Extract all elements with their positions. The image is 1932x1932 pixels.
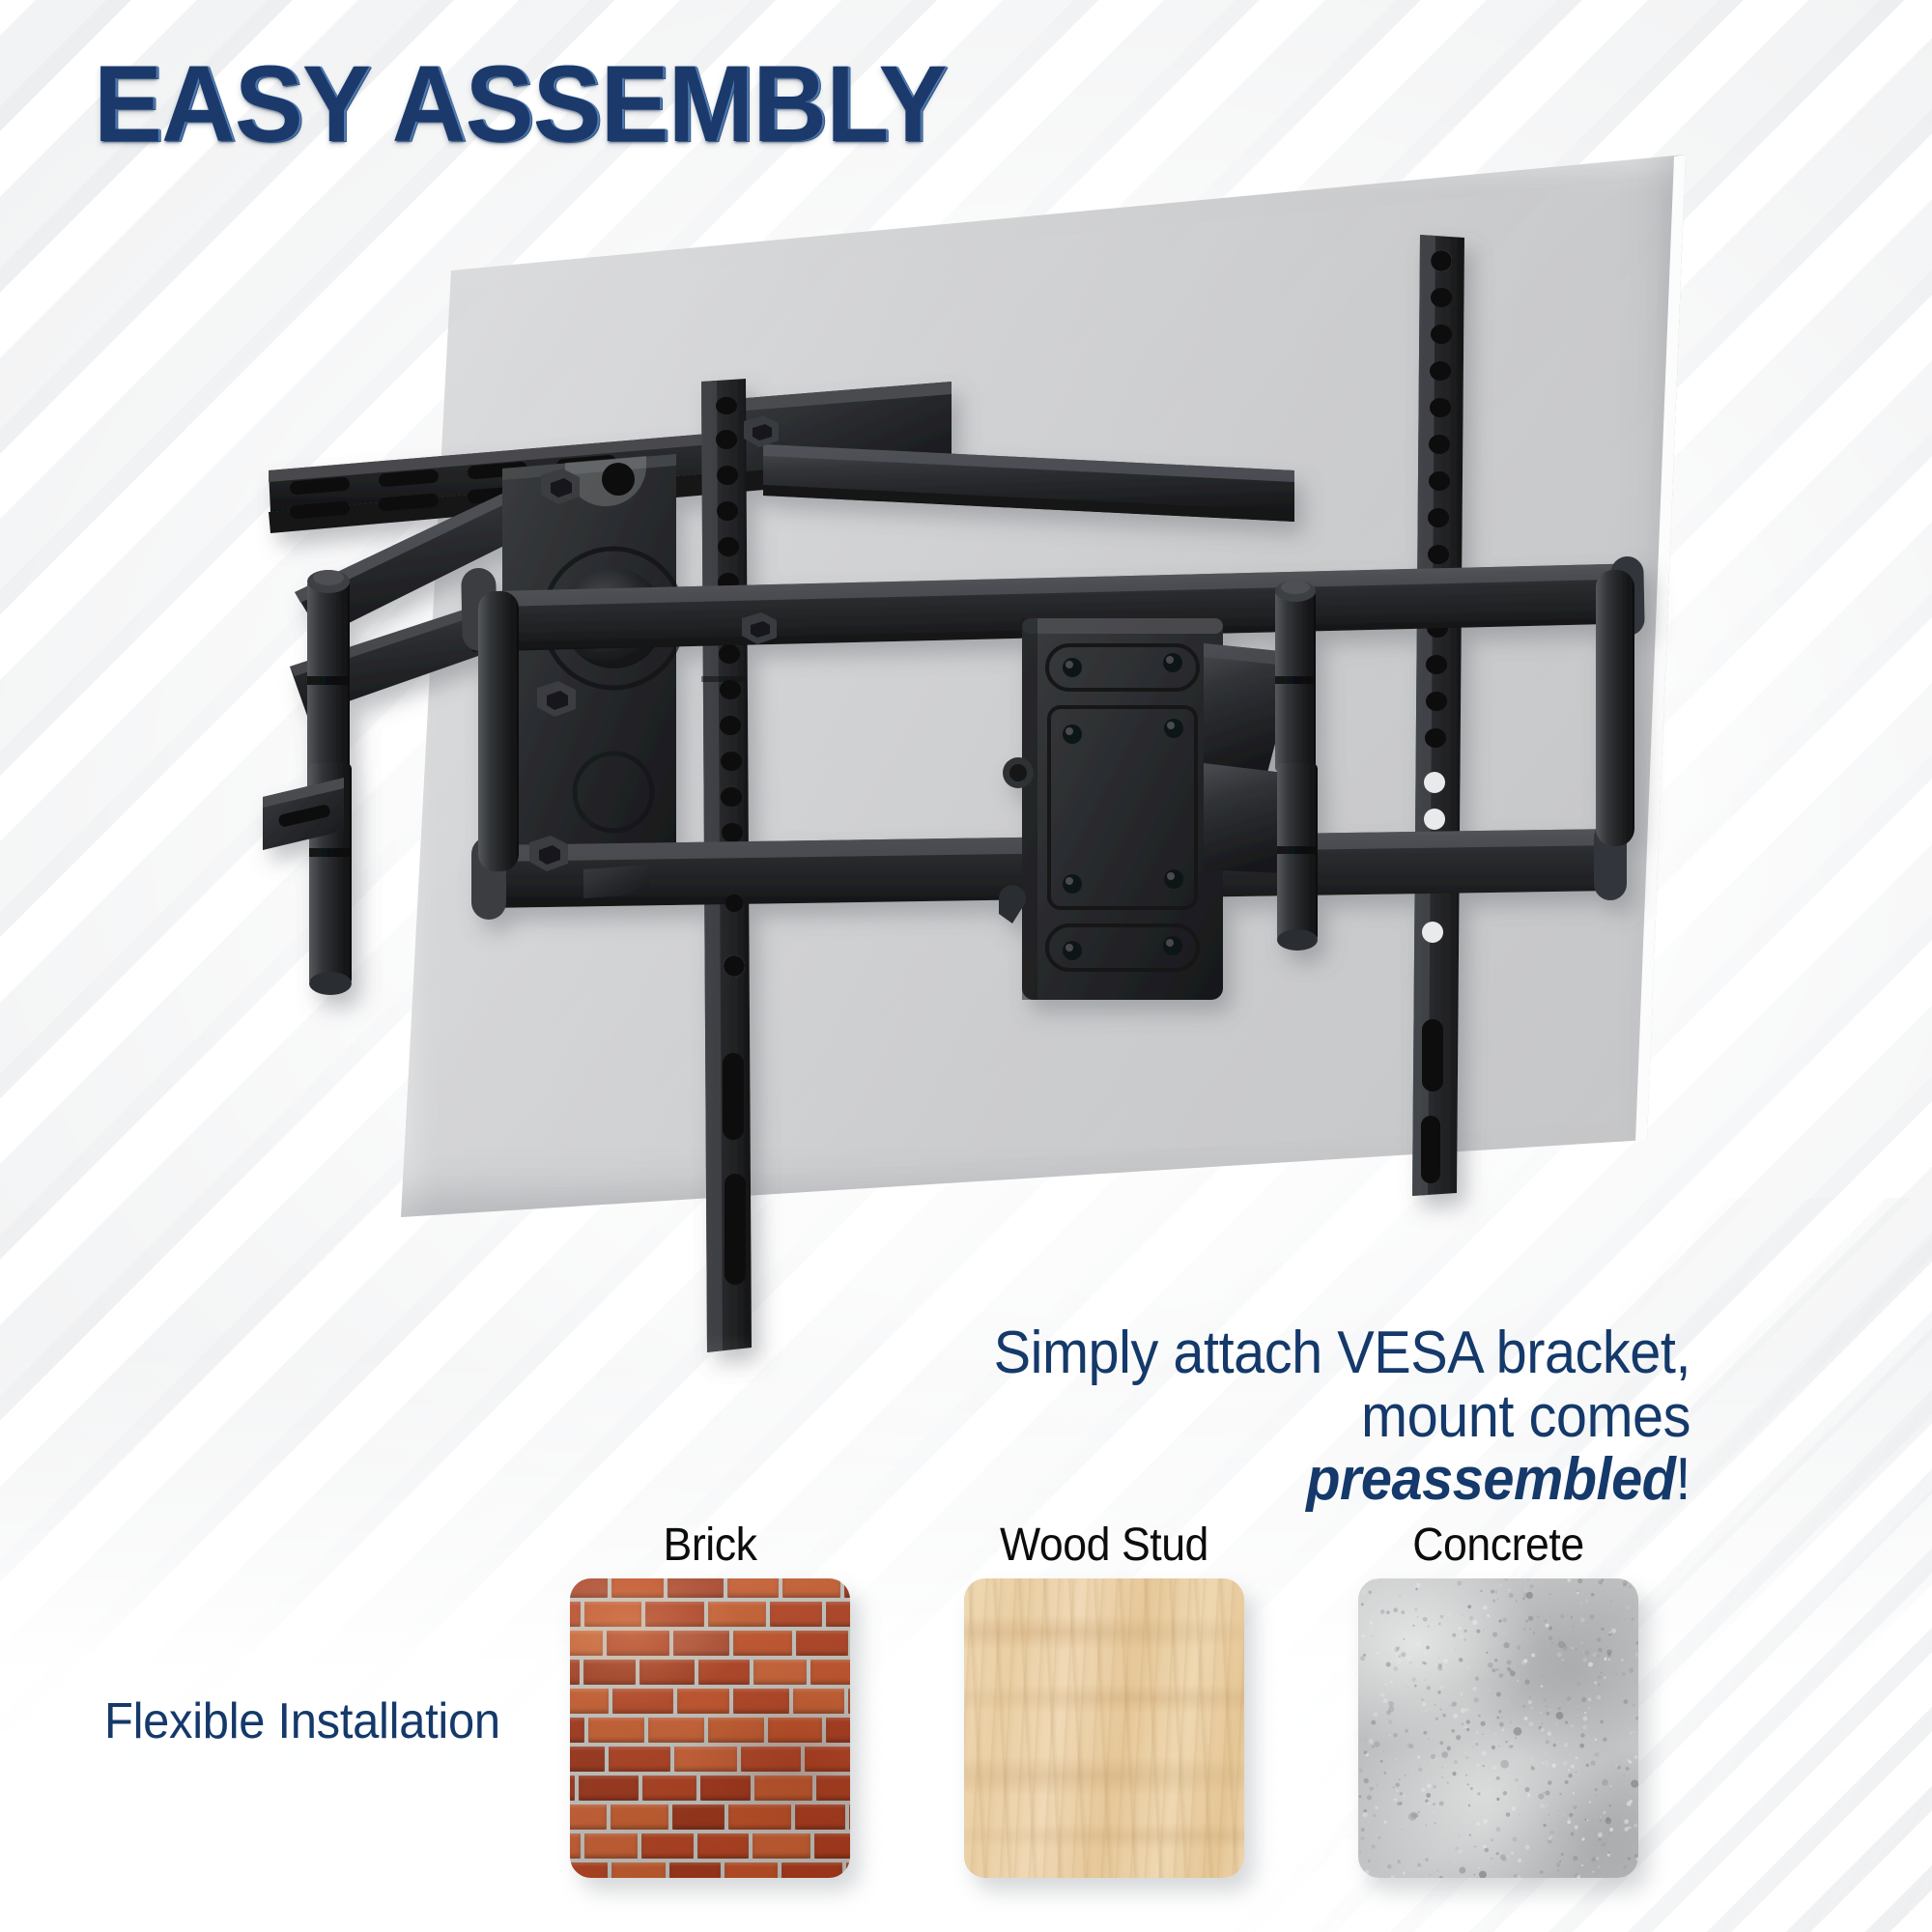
- swatch-concrete-label: Concrete: [1368, 1519, 1629, 1572]
- concrete-texture: [1358, 1578, 1638, 1878]
- tagline-emphasis: preassembled: [1306, 1446, 1675, 1513]
- wood-texture: [964, 1578, 1244, 1878]
- wood-figure: [964, 1578, 1244, 1878]
- page-title: EASY ASSEMBLY: [94, 50, 946, 158]
- tagline-line-2-suffix: !: [1675, 1446, 1690, 1513]
- swatch-wood-stud-label: Wood Stud: [974, 1519, 1235, 1572]
- brick-sheen: [570, 1578, 850, 1878]
- swatch-brick: Brick: [570, 1578, 850, 1878]
- tv-display-panel: [401, 155, 1686, 1217]
- swatch-concrete-tile: [1358, 1578, 1638, 1878]
- swatch-wood-stud: Wood Stud: [964, 1578, 1244, 1878]
- tagline-line-2-prefix: mount comes: [1361, 1383, 1690, 1450]
- swatch-brick-label: Brick: [580, 1519, 840, 1572]
- material-swatch-row: Brick Wood Stud Concrete: [570, 1517, 1681, 1922]
- concrete-speckles: [1358, 1578, 1638, 1878]
- tagline: Simply attach VESA bracket, mount comes …: [963, 1321, 1690, 1512]
- flexible-installation-label: Flexible Installation: [104, 1692, 500, 1750]
- swatch-wood-stud-tile: [964, 1578, 1244, 1878]
- marketing-image-canvas: EASY ASSEMBLY Simply attach VESA bracket…: [0, 0, 1932, 1932]
- tagline-line-1: Simply attach VESA bracket,: [963, 1321, 1690, 1385]
- tagline-line-2: mount comes preassembled!: [963, 1385, 1690, 1512]
- swatch-concrete: Concrete: [1358, 1578, 1638, 1878]
- swatch-brick-tile: [570, 1578, 850, 1878]
- brick-texture: [570, 1578, 850, 1878]
- tv-screen-shading: [401, 155, 1686, 1217]
